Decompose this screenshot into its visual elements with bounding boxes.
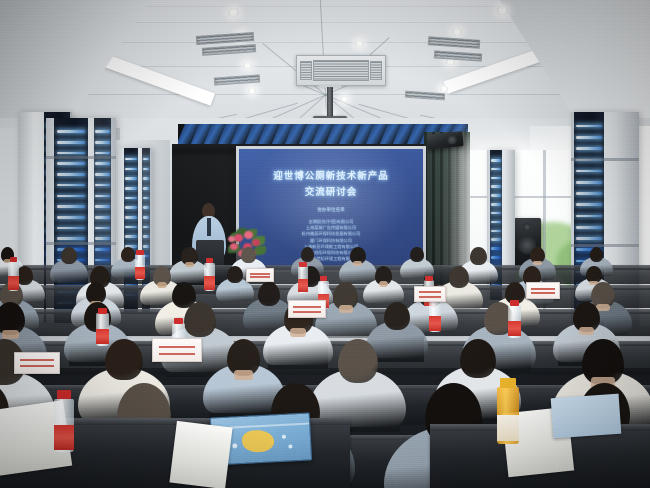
led-bar xyxy=(491,194,501,197)
led-bar xyxy=(143,245,150,248)
audience-member-neck xyxy=(339,305,353,313)
bottle-body xyxy=(54,399,74,452)
led-bar xyxy=(95,259,109,262)
audience-member-head xyxy=(470,247,487,265)
name-card-text-line xyxy=(250,273,270,275)
bottle-cap xyxy=(510,300,519,306)
bottle-label xyxy=(96,329,109,344)
bottle-cap xyxy=(320,276,328,281)
led-bar xyxy=(95,205,109,208)
led-bar xyxy=(57,184,86,187)
led-bar xyxy=(57,237,86,240)
audience-member-head xyxy=(410,247,424,262)
ac-grille-right xyxy=(370,61,382,80)
audience-member-head xyxy=(227,266,243,283)
folder-graphic xyxy=(242,429,275,453)
ceiling-downlight xyxy=(452,28,462,36)
audience-member-head xyxy=(460,339,496,378)
name-card-text-line xyxy=(293,306,320,308)
audience-member-head xyxy=(241,247,256,263)
folder-dot-2 xyxy=(282,435,286,439)
flower-bloom xyxy=(252,239,260,246)
led-bar xyxy=(491,185,501,188)
led-bar xyxy=(491,177,501,180)
led-bar xyxy=(125,235,137,238)
bottle-label xyxy=(508,321,521,336)
ceiling-air-diffuser xyxy=(202,44,256,56)
bottle-body xyxy=(135,254,145,280)
name-card-text-line xyxy=(20,359,53,361)
led-bar xyxy=(491,203,501,206)
audience-member-neck xyxy=(353,261,362,266)
led-bar xyxy=(57,130,86,133)
slide-sponsor-line: 江苏新世纪环境工程有限公司 xyxy=(239,256,423,262)
bottle-label xyxy=(54,425,74,450)
bottle-cap xyxy=(136,250,143,255)
led-bar xyxy=(125,187,137,190)
led-bar xyxy=(125,197,137,200)
juice-bottle[interactable] xyxy=(497,378,519,444)
bottle-cap xyxy=(10,257,18,262)
led-bar xyxy=(95,195,109,198)
presenter-necktie xyxy=(207,218,211,236)
led-bar xyxy=(491,221,501,224)
led-bar xyxy=(125,168,137,171)
name-card-text-line xyxy=(159,346,196,348)
column-band-left-1 xyxy=(46,156,116,159)
projection-screen: 迎世博公厕新技术新产品 交流研讨会 协办单位名单 金隅股份(中国)有限公司上海某… xyxy=(239,149,423,269)
ceiling-downlight xyxy=(243,62,252,69)
led-bar xyxy=(576,237,601,240)
led-bar xyxy=(576,203,601,206)
bottle-cap xyxy=(425,276,432,281)
led-bar xyxy=(57,173,86,176)
led-bar xyxy=(491,212,501,215)
slide-title-line-1: 迎世博公厕新技术新产品 xyxy=(239,171,423,182)
slide-title-line-2: 交流研讨会 xyxy=(239,187,423,198)
led-bar xyxy=(95,152,109,155)
speaker-tweeter-right xyxy=(523,223,531,231)
led-bar xyxy=(143,226,150,229)
led-bar xyxy=(143,206,150,209)
name-card-text-line xyxy=(20,365,53,367)
bottle-body xyxy=(8,262,19,291)
led-bar xyxy=(95,141,109,144)
ac-cassette-unit xyxy=(296,55,386,86)
led-bar xyxy=(491,159,501,162)
led-bar xyxy=(491,247,501,250)
led-bar xyxy=(95,248,109,251)
table-name-card xyxy=(288,300,326,318)
bottle-body xyxy=(204,263,215,291)
bottle-cap xyxy=(98,308,107,314)
audience-member-head xyxy=(184,302,216,337)
led-bar xyxy=(125,177,137,180)
audience-member-head xyxy=(338,339,378,383)
bottle-cap xyxy=(174,318,183,324)
led-bar xyxy=(57,205,86,208)
led-bar xyxy=(576,192,601,195)
bottle-label xyxy=(429,316,441,330)
ceiling-air-diffuser xyxy=(428,36,481,49)
water-bottle[interactable] xyxy=(298,262,308,293)
audience-member-neck xyxy=(157,282,167,287)
bottle-cap xyxy=(206,258,214,263)
audience-member-head xyxy=(384,302,410,330)
flower-bloom xyxy=(230,243,238,250)
table-name-card xyxy=(526,282,560,299)
led-bar xyxy=(143,177,150,180)
audience-member-head xyxy=(449,266,469,288)
led-bar xyxy=(143,158,150,161)
led-bar xyxy=(143,168,150,171)
table-name-card xyxy=(414,286,446,302)
led-bar xyxy=(143,187,150,190)
audience-member-head xyxy=(590,247,603,262)
led-bar xyxy=(57,216,86,219)
led-bar xyxy=(491,256,501,259)
ceiling-air-diffuser xyxy=(214,74,260,85)
folder-dot-1 xyxy=(232,443,237,448)
name-card-text-line xyxy=(419,296,442,298)
slide-sponsor-list: 金隅股份(中国)有限公司上海某城广告传媒有限公司杭州美辰环保科技发展有限公司厦门… xyxy=(239,219,423,262)
name-card-text-line xyxy=(531,288,555,290)
bottle-label xyxy=(135,267,145,279)
flower-bloom xyxy=(228,236,235,242)
led-bar xyxy=(576,170,601,173)
audience-member-head xyxy=(258,282,280,306)
name-card-text-line xyxy=(293,311,320,313)
audience-member-neck xyxy=(185,262,194,267)
column-band-right-2 xyxy=(571,244,639,247)
bottle-cap xyxy=(299,262,306,267)
led-bar xyxy=(576,147,601,150)
water-bottle[interactable] xyxy=(508,300,521,338)
water-bottle[interactable] xyxy=(8,257,19,291)
ac-grille-center xyxy=(313,60,369,81)
ceiling-downlight xyxy=(497,6,508,15)
led-bar xyxy=(57,227,86,230)
bottle-body xyxy=(96,313,109,346)
audience-member-head xyxy=(105,339,143,380)
column-band-right-1 xyxy=(571,158,639,161)
name-card-text-line xyxy=(159,353,196,355)
table-name-card xyxy=(152,338,202,362)
ceiling-downlight xyxy=(341,96,348,102)
led-bar xyxy=(143,216,150,219)
ceiling-downlight xyxy=(228,8,239,17)
table-name-card xyxy=(246,268,274,282)
column-band-left-2 xyxy=(46,242,116,245)
bottle-body xyxy=(497,387,519,444)
speaker-cone-stage xyxy=(447,135,458,145)
flower-bloom xyxy=(244,231,253,239)
ac-grille-left xyxy=(300,61,312,80)
led-bar xyxy=(95,130,109,133)
water-bottle[interactable] xyxy=(54,390,74,452)
conference-room-photo: 迎世博公厕新技术新产品 交流研讨会 协办单位名单 金隅股份(中国)有限公司上海某… xyxy=(0,0,650,488)
led-bar xyxy=(576,136,601,139)
led-bar xyxy=(576,181,601,184)
slide-subtitle: 协办单位名单 xyxy=(239,207,423,213)
led-bar xyxy=(125,158,137,161)
name-card-text-line xyxy=(419,291,442,293)
led-bar xyxy=(57,141,86,144)
led-bar xyxy=(57,195,86,198)
water-bottle[interactable] xyxy=(204,258,215,291)
bottle-label xyxy=(497,415,519,441)
bottle-label xyxy=(298,279,308,291)
led-bar xyxy=(125,216,137,219)
led-bar xyxy=(143,235,150,238)
bottle-cap xyxy=(500,378,516,388)
audience-member-neck xyxy=(533,261,541,265)
paper-sheet-right-2[interactable] xyxy=(551,394,622,439)
led-bar xyxy=(95,173,109,176)
led-bar xyxy=(576,125,601,128)
ceiling-grid-line xyxy=(0,94,650,95)
led-bar xyxy=(576,226,601,229)
led-bar xyxy=(491,230,501,233)
led-bar xyxy=(95,162,109,165)
led-bar xyxy=(491,168,501,171)
bottle-label xyxy=(204,276,215,289)
led-bar xyxy=(125,206,137,209)
projector-mount-pole xyxy=(327,87,333,118)
name-card-text-line xyxy=(531,292,555,294)
name-card-text-line xyxy=(250,276,270,278)
audience-member-neck xyxy=(379,281,388,286)
led-bar xyxy=(95,237,109,240)
led-bar xyxy=(143,197,150,200)
water-bottle[interactable] xyxy=(135,250,145,280)
led-bar xyxy=(576,215,601,218)
led-bar xyxy=(57,162,86,165)
audience-member-neck xyxy=(579,327,594,335)
audience-member-head xyxy=(121,247,135,262)
ceiling-downlight xyxy=(355,40,364,47)
water-bottle[interactable] xyxy=(96,308,109,346)
ceiling-air-diffuser xyxy=(434,50,482,61)
bottle-cap xyxy=(57,390,71,399)
audience-member-neck xyxy=(234,370,253,380)
led-bar xyxy=(95,184,109,187)
led-bar xyxy=(491,238,501,241)
flower-bloom xyxy=(234,234,243,242)
led-bar xyxy=(125,226,137,229)
audience-member-head xyxy=(61,247,77,264)
led-bar xyxy=(95,216,109,219)
folder-dot-3 xyxy=(288,444,292,448)
ceiling-air-diffuser xyxy=(405,91,445,101)
bottle-label xyxy=(8,276,19,290)
led-bar xyxy=(57,152,86,155)
audience-member-neck xyxy=(2,330,19,339)
led-bar xyxy=(95,227,109,230)
bottle-body xyxy=(429,301,441,332)
audience-member-neck xyxy=(290,328,306,337)
bottle-body xyxy=(298,266,308,293)
audience-member-head xyxy=(301,247,314,262)
table-name-card xyxy=(14,352,60,374)
bottle-body xyxy=(508,305,521,338)
paper-sheet-center[interactable] xyxy=(169,421,232,488)
ceiling-air-diffuser xyxy=(196,32,254,45)
